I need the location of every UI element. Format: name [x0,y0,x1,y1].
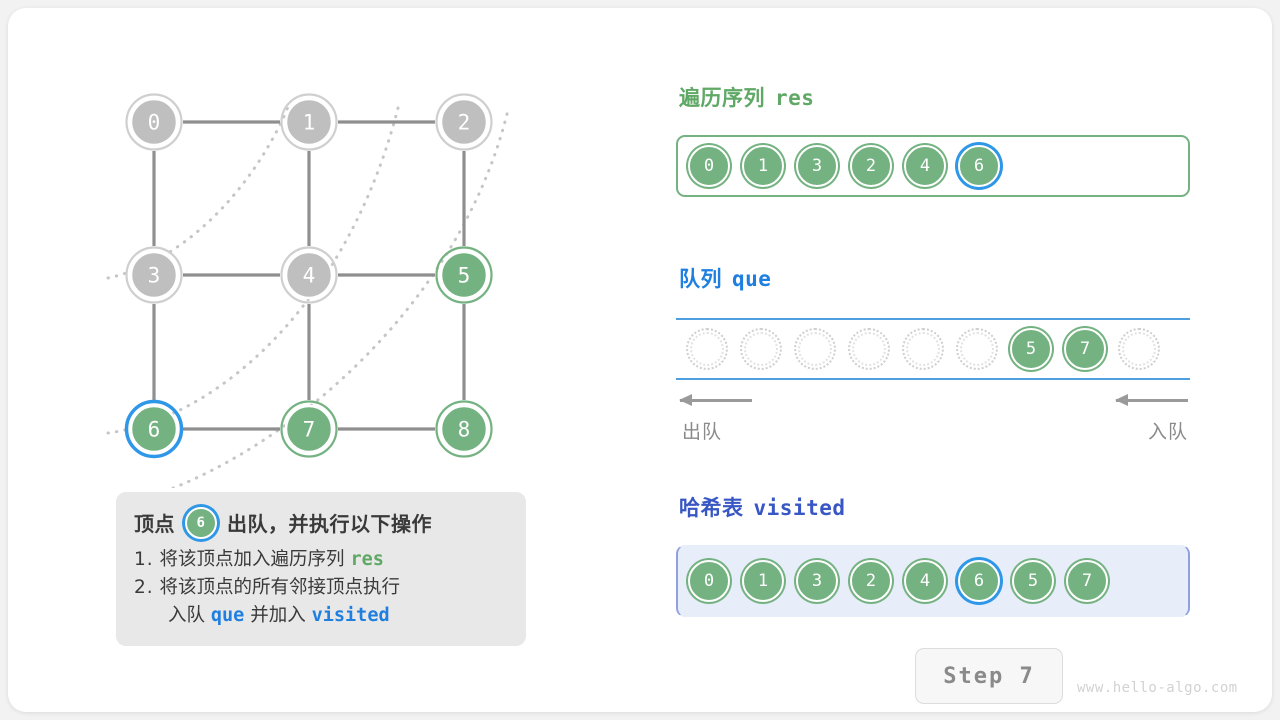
state-panel: 遍历序列res 013246 队列que 57 出队 入队 哈希表visited… [676,8,1216,712]
step-badge: Step 7 [915,648,1063,704]
visited-item: 5 [1012,560,1054,602]
visited-item: 2 [850,560,892,602]
watermark: www.hello-algo.com [1077,680,1238,696]
queue-title-label: 队列 [679,267,722,291]
graph-node-2[interactable]: 2 [437,95,492,150]
res-item: 0 [688,145,730,187]
queue-slot [1118,328,1160,370]
res-item: 4 [904,145,946,187]
res-title-code: res [775,86,814,110]
graph-node-7[interactable]: 7 [282,402,337,457]
node-label: 2 [458,111,471,135]
visited-item: 3 [796,560,838,602]
caption-step-item: 1. 将该顶点加入遍历序列 res [134,546,508,574]
queue-slot [794,328,836,370]
caption-head-suffix: 出队，并执行以下操作 [227,508,432,537]
queue-container: 57 [676,318,1190,380]
res-item: 2 [850,145,892,187]
queue-slot: 5 [1010,328,1052,370]
visited-item: 0 [688,560,730,602]
arrow-row [676,391,1190,411]
queue-slot: 7 [1064,328,1106,370]
queue-slot [848,328,890,370]
dequeue-label: 出队 [682,417,722,444]
res-item: 1 [742,145,784,187]
caption-vertex-chip-value: 6 [185,507,217,539]
visited-item: 7 [1066,560,1108,602]
graph-node-5[interactable]: 5 [437,248,492,303]
node-label: 0 [148,111,161,135]
graph-nodes: 012345678 [127,95,492,457]
node-label: 1 [303,111,316,135]
node-label: 7 [303,418,316,442]
queue-slot [956,328,998,370]
visited-item: 6 [958,560,1000,602]
caption-text-part: 并加入 [250,605,306,626]
node-label: 6 [148,418,161,442]
figure-card: 012345678 顶点 6 出队，并执行以下操作 1. 将该顶点加入遍历序列 … [8,8,1272,712]
visited-title-code: visited [754,496,846,520]
visited-section-title: 哈希表visited [679,492,846,522]
node-label: 3 [148,264,161,288]
graph-node-8[interactable]: 8 [437,402,492,457]
caption-step-item: 入队 que 并加入 visited [134,602,508,630]
queue-slot [686,328,728,370]
caption-text-part: 入队 [168,605,205,626]
node-label: 5 [458,264,471,288]
caption-step-list: 1. 将该顶点加入遍历序列 res 2. 将该顶点的所有邻接顶点执行 入队 qu… [134,546,508,630]
node-label: 4 [303,264,316,288]
graph-node-0[interactable]: 0 [127,95,182,150]
caption-step-item: 2. 将该顶点的所有邻接顶点执行 [134,574,508,602]
queue-slot [740,328,782,370]
queue-slots: 57 [676,320,1190,378]
queue-title-code: que [732,267,771,291]
queue-direction-arrows: 出队 入队 [676,391,1190,451]
queue-bottom-rule [676,378,1190,380]
caption-box: 顶点 6 出队，并执行以下操作 1. 将该顶点加入遍历序列 res 2. 将该顶… [116,492,526,646]
res-title-label: 遍历序列 [679,86,765,110]
caption-vertex-chip: 6 [185,507,217,539]
visited-item: 1 [742,560,784,602]
queue-slot [902,328,944,370]
node-label: 8 [458,418,471,442]
graph-node-6[interactable]: 6 [127,402,182,457]
graph-diagram: 012345678 [68,48,588,488]
queue-section-title: 队列que [679,263,771,293]
caption-step-number: 1. [134,549,154,570]
res-item: 6 [958,145,1000,187]
caption-text-part: 将该顶点加入遍历序列 [160,549,345,570]
res-list: 013246 [676,135,1190,197]
graph-svg: 012345678 [68,48,588,488]
visited-item: 4 [904,560,946,602]
caption-text-part: 将该顶点的所有邻接顶点执行 [160,577,401,598]
graph-node-3[interactable]: 3 [127,248,182,303]
graph-node-4[interactable]: 4 [282,248,337,303]
caption-text-part: que [211,605,244,626]
caption-text-part: visited [312,605,390,626]
caption-head-prefix: 顶点 [134,508,175,537]
caption-text-part: res [350,549,383,570]
res-section-title: 遍历序列res [679,82,814,112]
visited-set: 01324657 [676,545,1190,617]
graph-node-1[interactable]: 1 [282,95,337,150]
caption-heading: 顶点 6 出队，并执行以下操作 [134,506,508,538]
dequeue-arrow-icon [680,399,752,402]
enqueue-arrow-icon [1116,399,1188,402]
res-item: 3 [796,145,838,187]
visited-title-label: 哈希表 [679,496,744,520]
enqueue-label: 入队 [1148,417,1188,444]
caption-step-number: 2. [134,577,154,598]
